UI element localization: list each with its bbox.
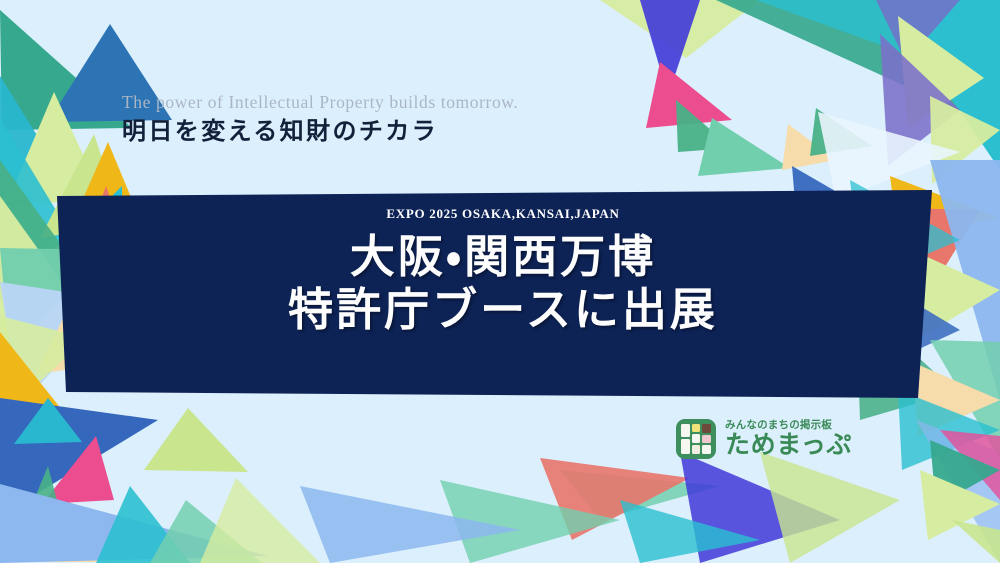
tagline-block: The power of Intellectual Property build… [122, 92, 518, 146]
tamemap-app-icon [676, 419, 716, 459]
tagline-japanese: 明日を変える知財のチカラ [122, 116, 518, 146]
tamemap-logo-name: ためまっぷ [725, 432, 852, 458]
decor-triangle-25 [144, 408, 248, 472]
tamemap-icon-tile-0 [681, 424, 690, 437]
tamemap-logo[interactable]: みんなのまちの掲示板 ためまっぷ [676, 419, 852, 459]
decor-triangle-61 [760, 452, 900, 563]
tamemap-icon-tile-6 [692, 445, 700, 454]
tagline-english: The power of Intellectual Property build… [122, 92, 518, 113]
tamemap-icon-tile-1 [692, 424, 700, 432]
tamemap-icon-tile-5 [681, 439, 690, 454]
tamemap-icon-tile-7 [702, 445, 711, 454]
tamemap-icon-tile-3 [692, 434, 700, 443]
promo-banner-canvas: The power of Intellectual Property build… [0, 0, 1000, 563]
decorative-triangles-layer [0, 0, 1000, 563]
tamemap-logo-text: みんなのまちの掲示板 ためまっぷ [725, 419, 852, 458]
tamemap-icon-tile-4 [702, 435, 711, 443]
decor-triangle-32 [698, 118, 790, 176]
tamemap-icon-tile-2 [702, 424, 711, 433]
